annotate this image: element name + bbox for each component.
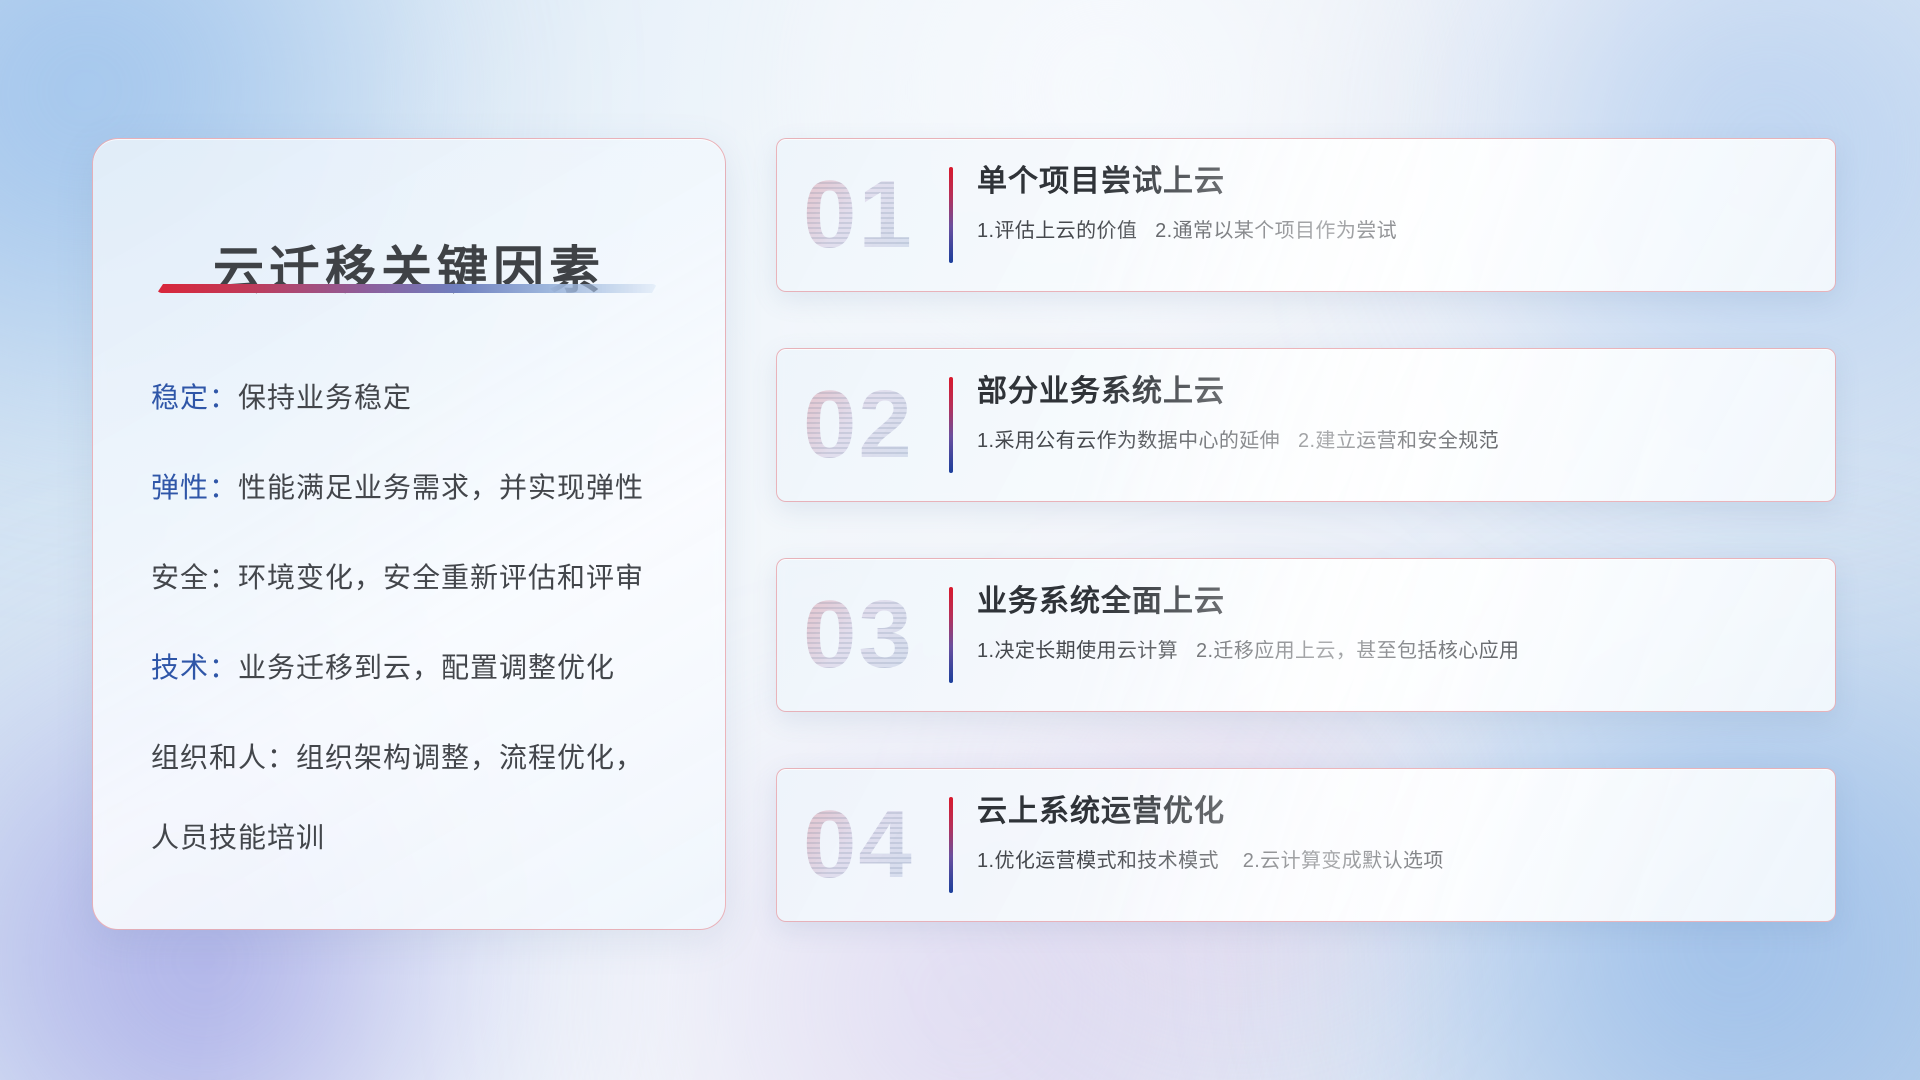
stage-title: 业务系统全面上云	[977, 585, 1811, 620]
key-factors-panel: 云迁移关键因素 稳定：保持业务稳定 弹性：性能满足业务需求，并实现弹性 安全：环…	[92, 138, 726, 930]
slide-canvas: 云迁移关键因素 稳定：保持业务稳定 弹性：性能满足业务需求，并实现弹性 安全：环…	[0, 0, 1920, 1080]
factor-row-security: 安全：环境变化，安全重新评估和评审	[151, 564, 695, 592]
factor-value: 保持业务稳定	[238, 382, 412, 413]
stage-divider-bar	[949, 797, 953, 893]
stage-divider-bar	[949, 587, 953, 683]
stage-text-block: 单个项目尝试上云 1.评估上云的价值 2.通常以某个项目作为尝试	[977, 165, 1811, 244]
stage-title: 部分业务系统上云	[977, 375, 1811, 410]
key-factors-list: 稳定：保持业务稳定 弹性：性能满足业务需求，并实现弹性 安全：环境变化，安全重新…	[151, 384, 695, 856]
migration-stages-list: 01 单个项目尝试上云 1.评估上云的价值 2.通常以某个项目作为尝试 02 部…	[776, 138, 1836, 922]
stage-divider-bar	[949, 377, 953, 473]
factor-value: 组织架构调整，流程优化，	[296, 742, 644, 773]
factor-label: 组织和人：	[151, 742, 296, 773]
factor-row-stability: 稳定：保持业务稳定	[151, 384, 695, 412]
stage-divider-bar	[949, 167, 953, 263]
factor-row-elasticity: 弹性：性能满足业务需求，并实现弹性	[151, 474, 695, 502]
factor-row-organization-people-continued: 人员技能培训	[151, 816, 695, 856]
stage-number: 04	[803, 797, 914, 893]
stage-description: 1.采用公有云作为数据中心的延伸 2.建立运营和安全规范	[977, 428, 1811, 454]
stage-card-01[interactable]: 01 单个项目尝试上云 1.评估上云的价值 2.通常以某个项目作为尝试	[776, 138, 1836, 292]
factor-row-technology: 技术：业务迁移到云，配置调整优化	[151, 654, 695, 682]
stage-number: 02	[803, 377, 914, 473]
factor-label: 技术：	[151, 652, 238, 683]
factor-value: 业务迁移到云，配置调整优化	[238, 652, 615, 683]
factor-label: 安全：	[151, 562, 238, 593]
stage-number: 03	[803, 587, 914, 683]
factor-row-organization-people: 组织和人：组织架构调整，流程优化，	[151, 744, 695, 772]
stage-description: 1.评估上云的价值 2.通常以某个项目作为尝试	[977, 218, 1811, 244]
stage-number: 01	[803, 167, 914, 263]
stage-description: 1.优化运营模式和技术模式 2.云计算变成默认选项	[977, 848, 1811, 874]
factor-label: 弹性：	[151, 472, 238, 503]
factor-value: 性能满足业务需求，并实现弹性	[238, 472, 644, 503]
factor-value: 环境变化，安全重新评估和评审	[238, 562, 644, 593]
stage-text-block: 部分业务系统上云 1.采用公有云作为数据中心的延伸 2.建立运营和安全规范	[977, 375, 1811, 454]
stage-description: 1.决定长期使用云计算 2.迁移应用上云，甚至包括核心应用	[977, 638, 1811, 664]
title-underline-gradient	[157, 284, 657, 293]
factor-label: 稳定：	[151, 382, 238, 413]
stage-title: 云上系统运营优化	[977, 795, 1811, 830]
stage-title: 单个项目尝试上云	[977, 165, 1811, 200]
stage-card-03[interactable]: 03 业务系统全面上云 1.决定长期使用云计算 2.迁移应用上云，甚至包括核心应…	[776, 558, 1836, 712]
stage-text-block: 业务系统全面上云 1.决定长期使用云计算 2.迁移应用上云，甚至包括核心应用	[977, 585, 1811, 664]
stage-card-02[interactable]: 02 部分业务系统上云 1.采用公有云作为数据中心的延伸 2.建立运营和安全规范	[776, 348, 1836, 502]
stage-card-04[interactable]: 04 云上系统运营优化 1.优化运营模式和技术模式 2.云计算变成默认选项	[776, 768, 1836, 922]
stage-text-block: 云上系统运营优化 1.优化运营模式和技术模式 2.云计算变成默认选项	[977, 795, 1811, 874]
